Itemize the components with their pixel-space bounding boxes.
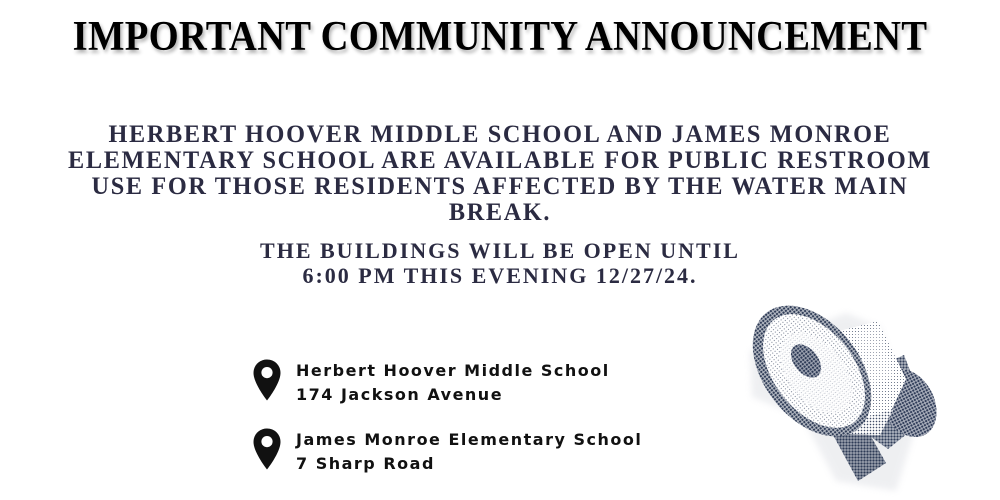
page-title: IMPORTANT COMMUNITY ANNOUNCEMENT xyxy=(40,14,960,60)
body-line: USE FOR THOSE RESIDENTS AFFECTED BY THE … xyxy=(15,174,985,200)
body-line: BREAK. xyxy=(15,200,985,226)
announcement-poster: IMPORTANT COMMUNITY ANNOUNCEMENT HERBERT… xyxy=(0,0,1000,500)
location-text: James Monroe Elementary School 7 Sharp R… xyxy=(296,425,642,476)
body-line: HERBERT HOOVER MIDDLE SCHOOL AND JAMES M… xyxy=(15,122,985,148)
location-name: James Monroe Elementary School xyxy=(296,428,642,452)
map-pin-icon xyxy=(252,427,282,471)
list-item: James Monroe Elementary School 7 Sharp R… xyxy=(252,425,642,476)
location-text: Herbert Hoover Middle School 174 Jackson… xyxy=(296,356,610,407)
announcement-hours: THE BUILDINGS WILL BE OPEN UNTIL 6:00 PM… xyxy=(0,238,1000,288)
map-pin-icon xyxy=(252,358,282,402)
list-item: Herbert Hoover Middle School 174 Jackson… xyxy=(252,356,642,407)
location-address: 7 Sharp Road xyxy=(296,452,642,476)
location-address: 174 Jackson Avenue xyxy=(296,383,610,407)
body-line: ELEMENTARY SCHOOL ARE AVAILABLE FOR PUBL… xyxy=(15,148,985,174)
locations-list: Herbert Hoover Middle School 174 Jackson… xyxy=(252,356,642,494)
announcement-body: HERBERT HOOVER MIDDLE SCHOOL AND JAMES M… xyxy=(15,122,985,226)
megaphone-illustration xyxy=(728,285,1000,500)
location-name: Herbert Hoover Middle School xyxy=(296,359,610,383)
hours-line: THE BUILDINGS WILL BE OPEN UNTIL xyxy=(0,238,1000,263)
